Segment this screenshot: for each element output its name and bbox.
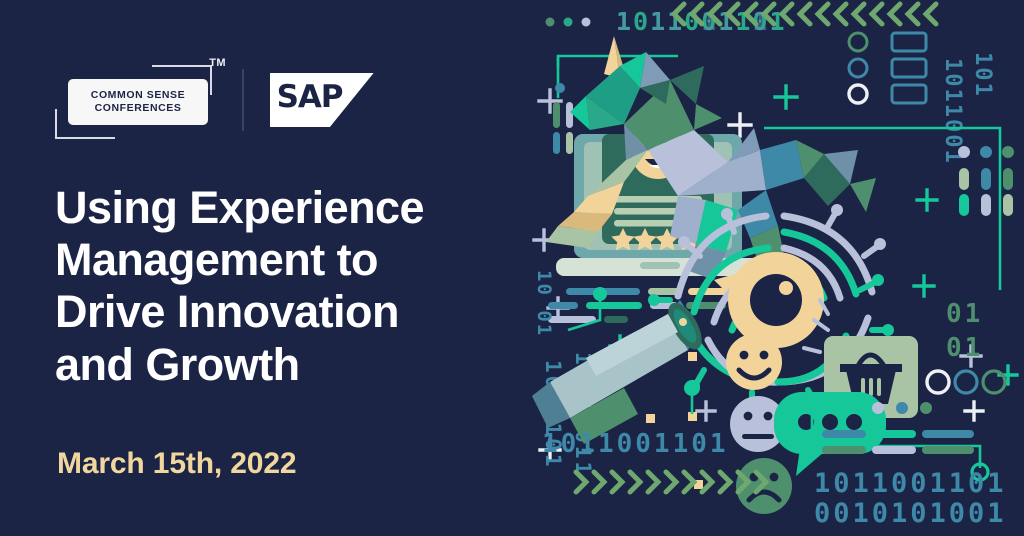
- common-sense-conferences-logo[interactable]: TM COMMON SENSE CONFERENCES: [55, 57, 220, 143]
- logo-line-2: CONFERENCES: [95, 102, 182, 115]
- binary-vertical-right-2: 101: [970, 52, 995, 98]
- binary-bottom-left-group: 1011001101: [542, 429, 729, 459]
- logo-plate: COMMON SENSE CONFERENCES: [68, 79, 208, 125]
- logo-line-1: COMMON SENSE: [91, 89, 185, 102]
- event-date: March 15th, 2022: [57, 447, 296, 480]
- slider-controls-right: [958, 146, 1014, 216]
- headline-line-3: Drive Innovation: [55, 286, 535, 338]
- left-content-panel: TM COMMON SENSE CONFERENCES SAP ® Using …: [0, 0, 545, 536]
- page-title: Using Experience Management to Drive Inn…: [55, 182, 535, 391]
- event-banner: TM COMMON SENSE CONFERENCES SAP ® Using …: [0, 0, 1024, 536]
- eye-iris: [728, 252, 824, 348]
- sap-logo[interactable]: SAP ®: [270, 73, 374, 127]
- dots-row-mid: [872, 402, 932, 414]
- binary-pair-b: 01: [946, 333, 983, 363]
- headline-line-1: Using Experience: [55, 182, 535, 234]
- binary-bottom-right-group: 1011001101 0010101001: [814, 468, 1007, 529]
- registered-mark: ®: [345, 109, 350, 116]
- binary-bottom-right-2: 0010101001: [814, 498, 1007, 529]
- trademark-symbol: TM: [209, 57, 226, 69]
- binary-bottom-right-1: 1011001101: [814, 468, 1007, 499]
- logo-row: TM COMMON SENSE CONFERENCES SAP ®: [55, 57, 374, 143]
- emoji-happy: [726, 334, 782, 390]
- logo-divider: [242, 69, 244, 131]
- binary-bottom-left: 1011001101: [542, 429, 729, 459]
- binary-pair-a: 01: [946, 299, 983, 329]
- headline-line-2: Management to: [55, 234, 535, 286]
- tech-illustration: .bin{font-family:"DejaVu Sans Mono","Lib…: [528, 0, 1024, 536]
- binary-vertical-midleft: 10 01: [533, 270, 555, 337]
- svg-text:10 01: 10 01: [533, 270, 555, 337]
- sap-wordmark: SAP: [277, 82, 343, 113]
- dots-row-top: [546, 18, 591, 27]
- headline-line-4: and Growth: [55, 339, 535, 391]
